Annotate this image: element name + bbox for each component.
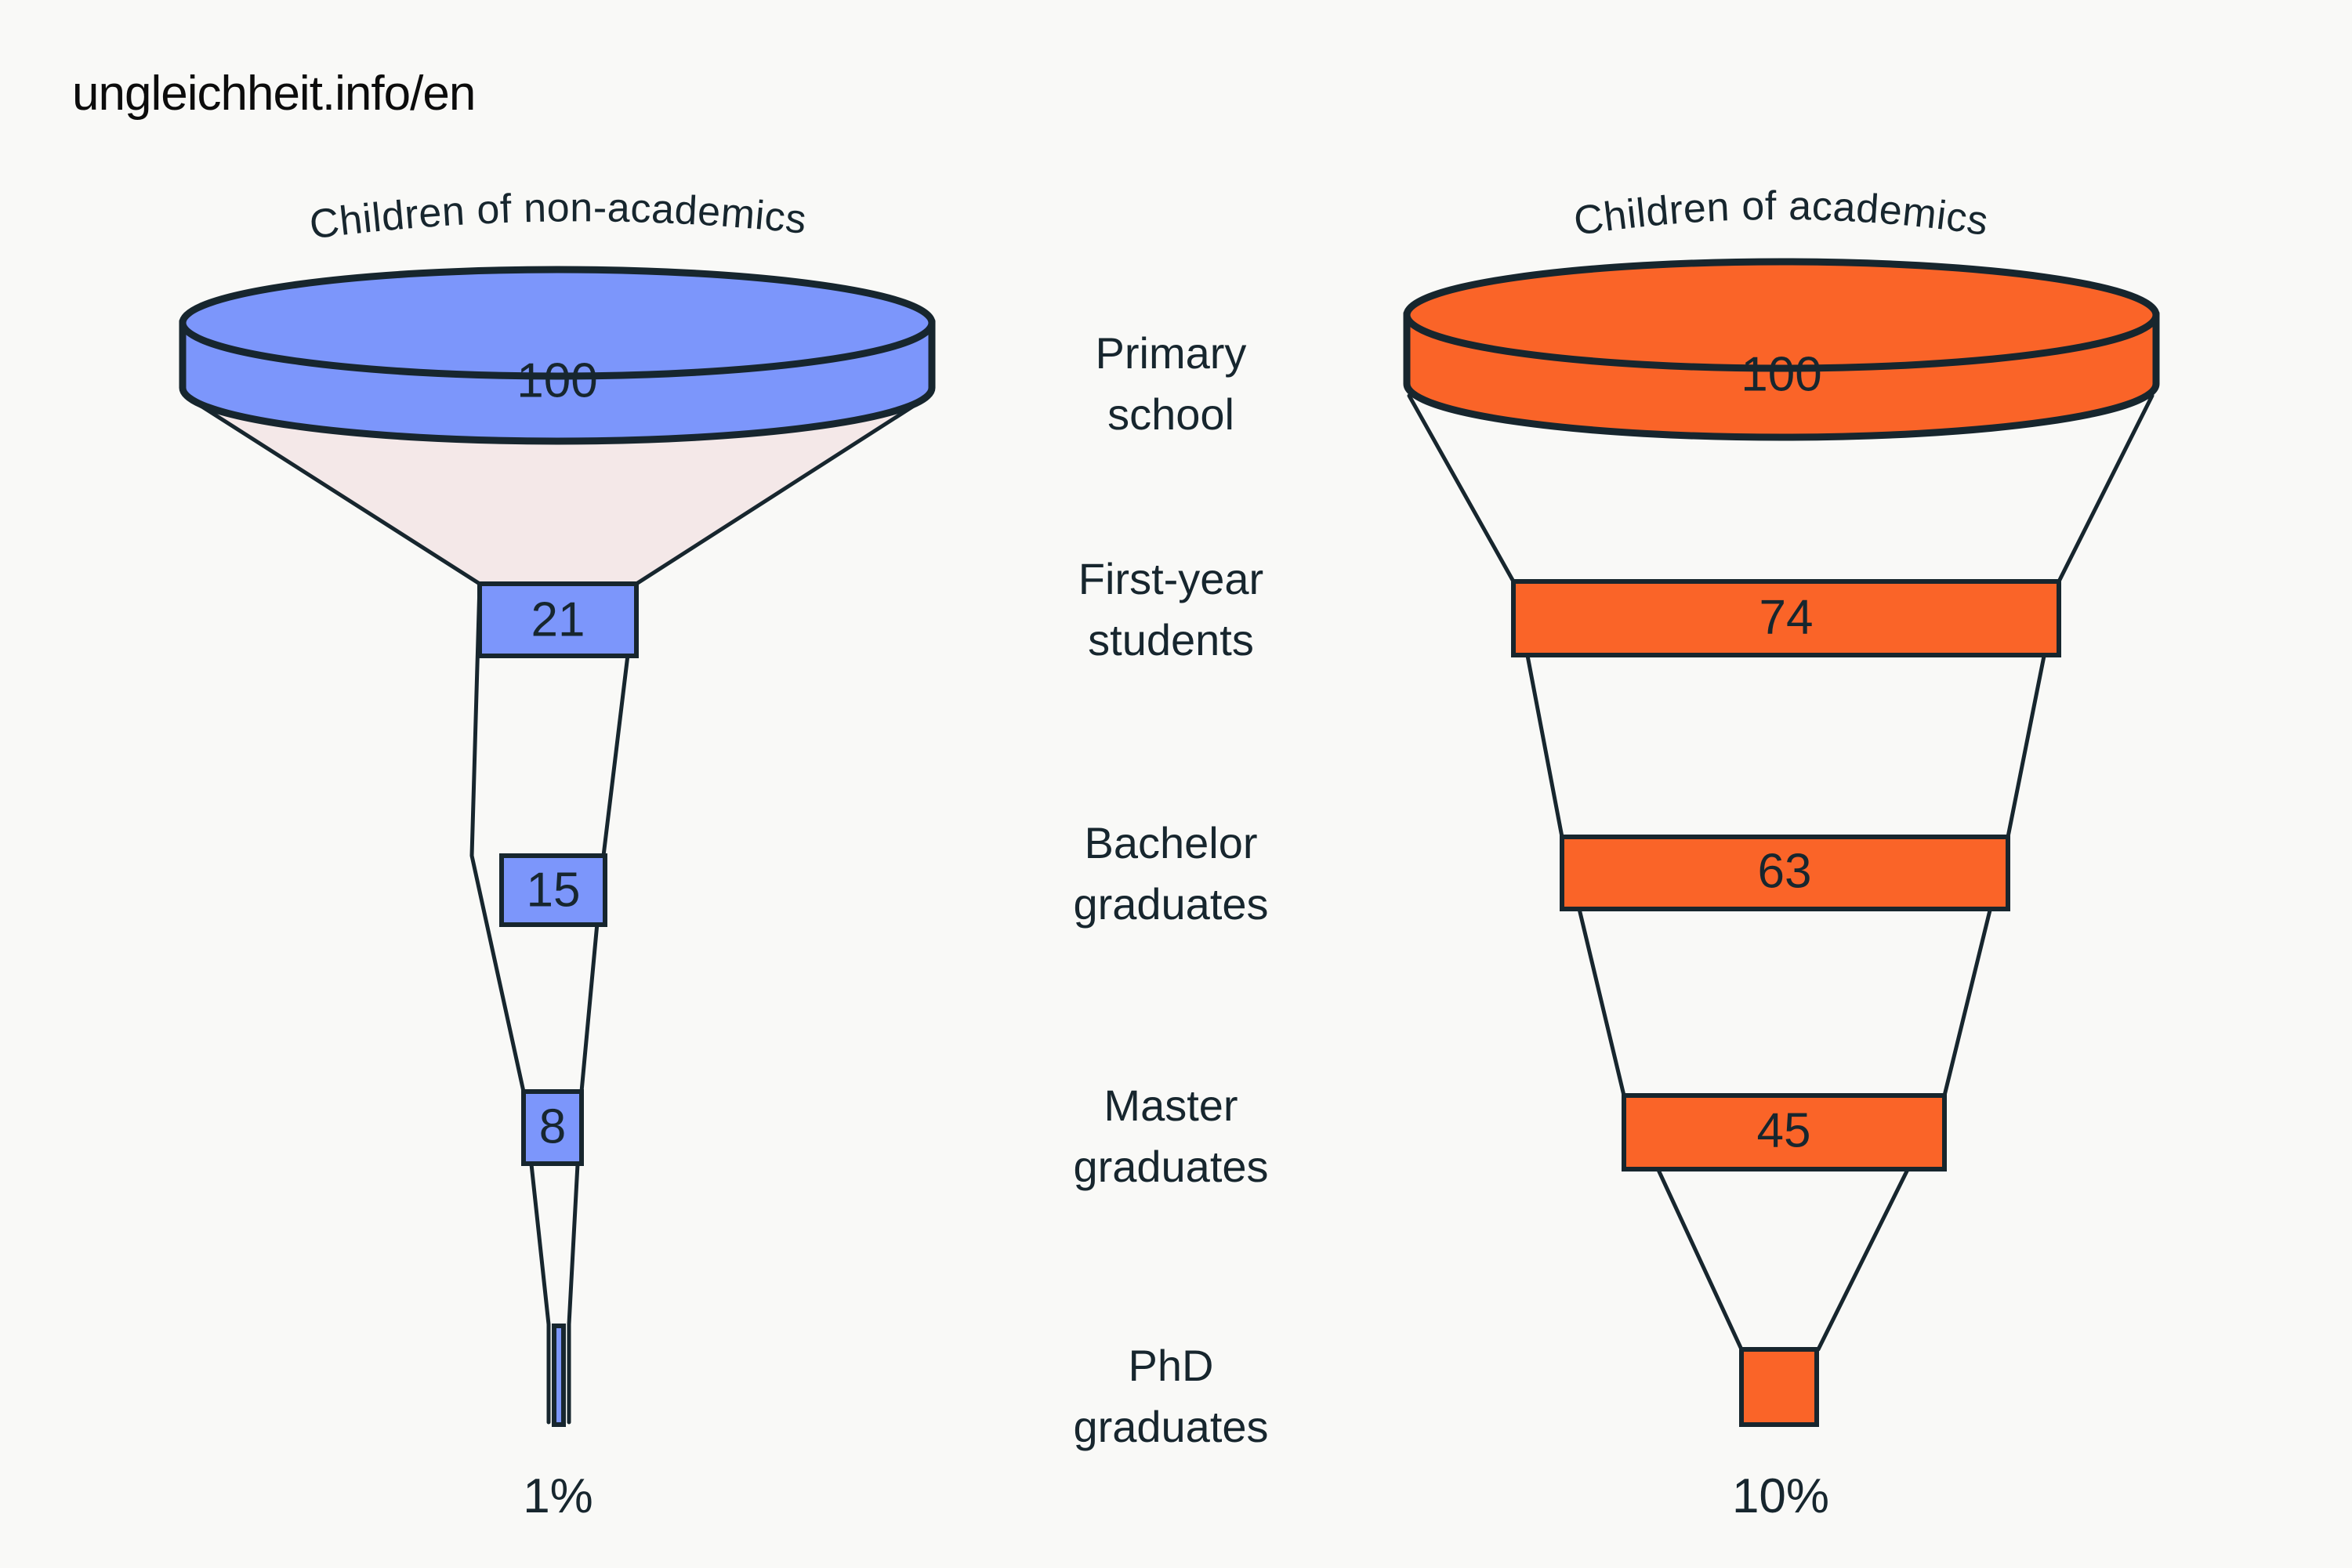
site-url: ungleichheit.info/en xyxy=(72,67,475,121)
funnel-right-footer-percent: 10% xyxy=(1732,1469,1829,1523)
funnel-right-value-primary-school: 100 xyxy=(1741,347,1821,401)
funnel-right-value-first-year: 74 xyxy=(1759,590,1814,644)
funnel-right-value-bachelor: 63 xyxy=(1758,844,1812,898)
svg-text:PhD: PhD xyxy=(1129,1341,1214,1390)
svg-text:graduates: graduates xyxy=(1073,1402,1268,1451)
svg-text:Master: Master xyxy=(1104,1081,1238,1130)
svg-text:Bachelor: Bachelor xyxy=(1084,818,1257,867)
infographic-canvas: ungleichheit.info/en Children of non-aca… xyxy=(0,0,2352,1568)
funnel-left-value-bachelor: 15 xyxy=(527,863,581,917)
funnel-left-band-phd xyxy=(554,1326,564,1425)
svg-text:graduates: graduates xyxy=(1073,879,1268,929)
funnel-left-value-first-year: 21 xyxy=(531,592,585,646)
svg-text:First-year: First-year xyxy=(1078,554,1263,603)
svg-text:students: students xyxy=(1088,615,1254,664)
funnel-left-value-primary-school: 100 xyxy=(516,353,597,407)
funnel-chart: ungleichheit.info/en Children of non-aca… xyxy=(0,0,2352,1568)
svg-text:school: school xyxy=(1107,389,1234,439)
svg-text:Primary: Primary xyxy=(1096,328,1247,378)
funnel-right-value-master: 45 xyxy=(1757,1103,1811,1157)
svg-text:graduates: graduates xyxy=(1073,1142,1268,1191)
funnel-right-band-phd xyxy=(1741,1349,1817,1425)
funnel-left-value-master: 8 xyxy=(539,1099,566,1153)
funnel-left-footer-percent: 1% xyxy=(523,1469,593,1523)
